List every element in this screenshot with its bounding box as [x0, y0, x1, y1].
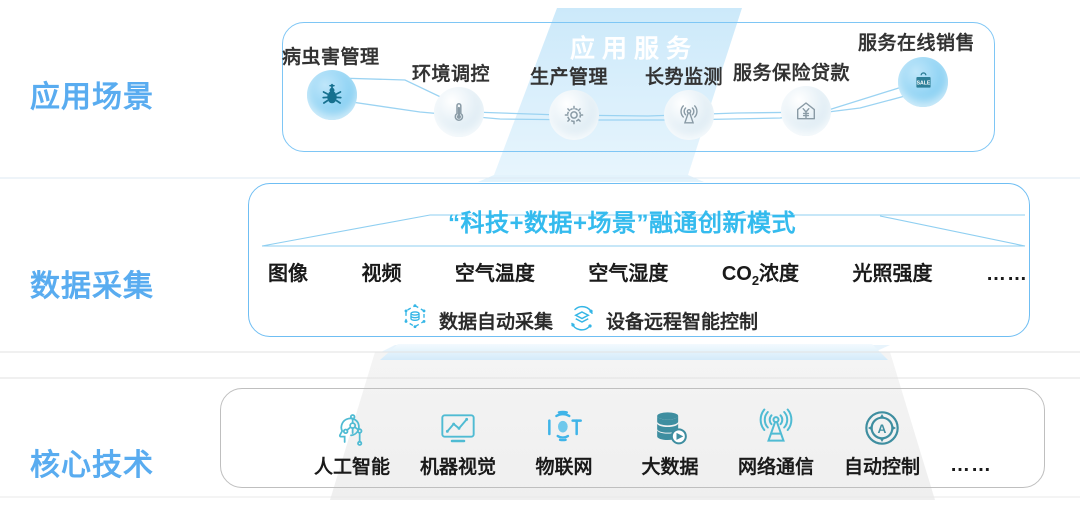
layers-sync-icon — [567, 303, 597, 338]
bug-icon — [307, 70, 357, 120]
tech-item-5-label: 网络通信 — [738, 452, 814, 479]
section-label-application: 应用场景 — [30, 72, 154, 116]
tech-item-2-label: 机器视觉 — [420, 452, 496, 479]
technology-items-row: 人工智能 机器视觉 — [310, 404, 992, 479]
co2-base: CO — [722, 263, 752, 285]
svg-text:SALE: SALE — [916, 80, 930, 86]
co2-subscript: 2 — [752, 273, 759, 288]
data-term-1: 图像 — [268, 257, 308, 286]
co2-tail: 浓度 — [759, 263, 799, 285]
sale-tag-icon: SALE — [898, 57, 948, 107]
data-feature-2[interactable]: 设备远程智能控制 — [567, 303, 758, 338]
data-feature-1-label: 数据自动采集 — [439, 307, 553, 334]
auto-control-icon: A — [862, 404, 902, 448]
antenna-signal-icon — [756, 404, 796, 448]
monitor-chart-icon — [438, 404, 478, 448]
data-features-row: 数据自动采集 设备远程智能控制 — [400, 303, 758, 338]
data-term-3: 空气温度 — [455, 257, 535, 286]
data-terms-row: 图像 视频 空气温度 空气湿度 CO2浓度 光照强度 …… — [268, 257, 1028, 288]
tech-item-4[interactable]: 大数据 — [628, 404, 712, 479]
app-node-2-label: 环境调控 — [412, 59, 490, 86]
house-yuan-icon — [781, 86, 831, 136]
tech-item-2[interactable]: 机器视觉 — [416, 404, 500, 479]
database-network-icon — [400, 303, 430, 338]
section-label-technology: 核心技术 — [30, 440, 154, 484]
tech-item-1[interactable]: 人工智能 — [310, 404, 394, 479]
tech-item-1-label: 人工智能 — [314, 452, 390, 479]
data-feature-1[interactable]: 数据自动采集 — [400, 303, 553, 338]
data-term-5-co2: CO2浓度 — [722, 257, 799, 288]
application-banner-title: 应用服务 — [570, 29, 698, 65]
svg-text:A: A — [878, 422, 887, 436]
tech-item-6-label: 自动控制 — [844, 452, 920, 479]
app-node-5-label: 服务保险贷款 — [733, 58, 850, 85]
section-label-data: 数据采集 — [30, 261, 154, 305]
iot-icon — [544, 404, 584, 448]
diagram-canvas: 应用场景 数据采集 核心技术 应用服务 病虫害管理 — [0, 0, 1080, 512]
tech-item-6[interactable]: A 自动控制 — [840, 404, 924, 479]
data-term-6: 光照强度 — [853, 257, 933, 286]
tech-item-3-label: 物联网 — [535, 452, 592, 479]
app-node-3-label: 生产管理 — [530, 62, 608, 89]
tech-item-5[interactable]: 网络通信 — [734, 404, 818, 479]
data-term-4: 空气湿度 — [588, 257, 668, 286]
app-node-4-label: 长势监测 — [645, 62, 723, 89]
app-node-6-label: 服务在线销售 — [858, 28, 975, 55]
app-node-1-label: 病虫害管理 — [282, 42, 380, 69]
tech-item-4-label: 大数据 — [641, 452, 698, 479]
technology-ellipsis: …… — [950, 454, 992, 479]
data-headline: “科技+数据+场景”融通创新模式 — [448, 203, 796, 238]
gear-icon — [549, 90, 599, 140]
signal-tower-icon — [664, 90, 714, 140]
data-term-2: 视频 — [361, 257, 401, 286]
thermometer-icon — [434, 87, 484, 137]
database-icon — [650, 404, 690, 448]
data-feature-2-label: 设备远程智能控制 — [606, 307, 758, 334]
tech-item-3[interactable]: 物联网 — [522, 404, 606, 479]
data-terms-ellipsis: …… — [986, 263, 1028, 286]
ai-head-icon — [332, 404, 372, 448]
